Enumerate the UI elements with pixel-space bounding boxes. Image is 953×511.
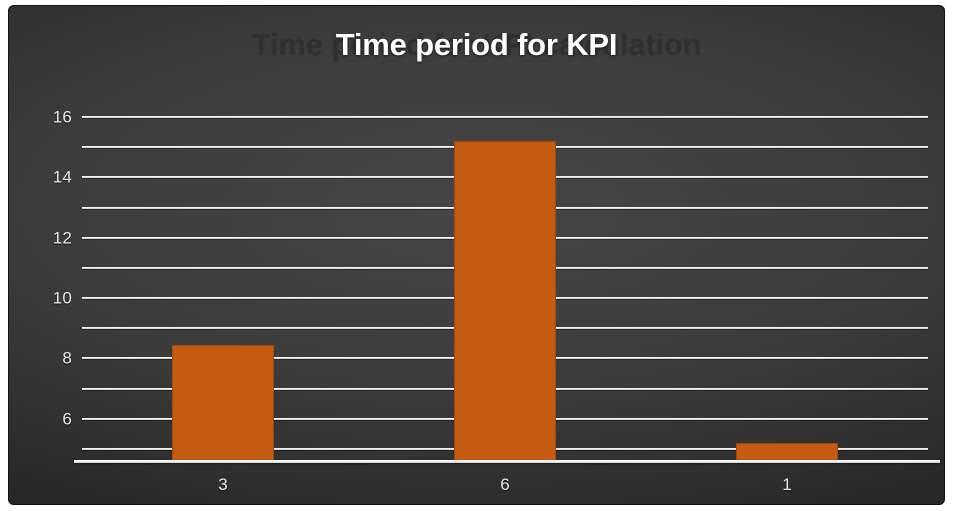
y-axis-tick-label: 10 <box>12 290 72 307</box>
chart-title-text: Time period for KPI <box>336 27 618 62</box>
y-axis-tick-label: 16 <box>12 109 72 126</box>
bar[interactable] <box>454 141 556 463</box>
x-axis-tick-label: 6 <box>465 475 545 495</box>
chart-panel: Time period for KPI calculation Time per… <box>8 5 945 505</box>
y-axis-labels: 1614121086 <box>8 99 72 461</box>
gridline <box>82 116 928 118</box>
bar[interactable] <box>172 345 274 463</box>
chart-title-group: Time period for KPI calculation Time per… <box>8 27 945 79</box>
x-axis-line <box>74 460 940 463</box>
chart-title: Time period for KPI <box>8 27 945 63</box>
x-axis-tick-label: 1 <box>747 475 827 495</box>
chart-root: Time period for KPI calculation Time per… <box>0 0 953 511</box>
plot-area <box>82 99 928 461</box>
y-axis-tick-label: 14 <box>12 169 72 186</box>
y-axis-tick-label: 12 <box>12 229 72 246</box>
x-axis-tick-label: 3 <box>183 475 263 495</box>
y-axis-tick-label: 6 <box>12 410 72 427</box>
y-axis-tick-label: 8 <box>12 350 72 367</box>
